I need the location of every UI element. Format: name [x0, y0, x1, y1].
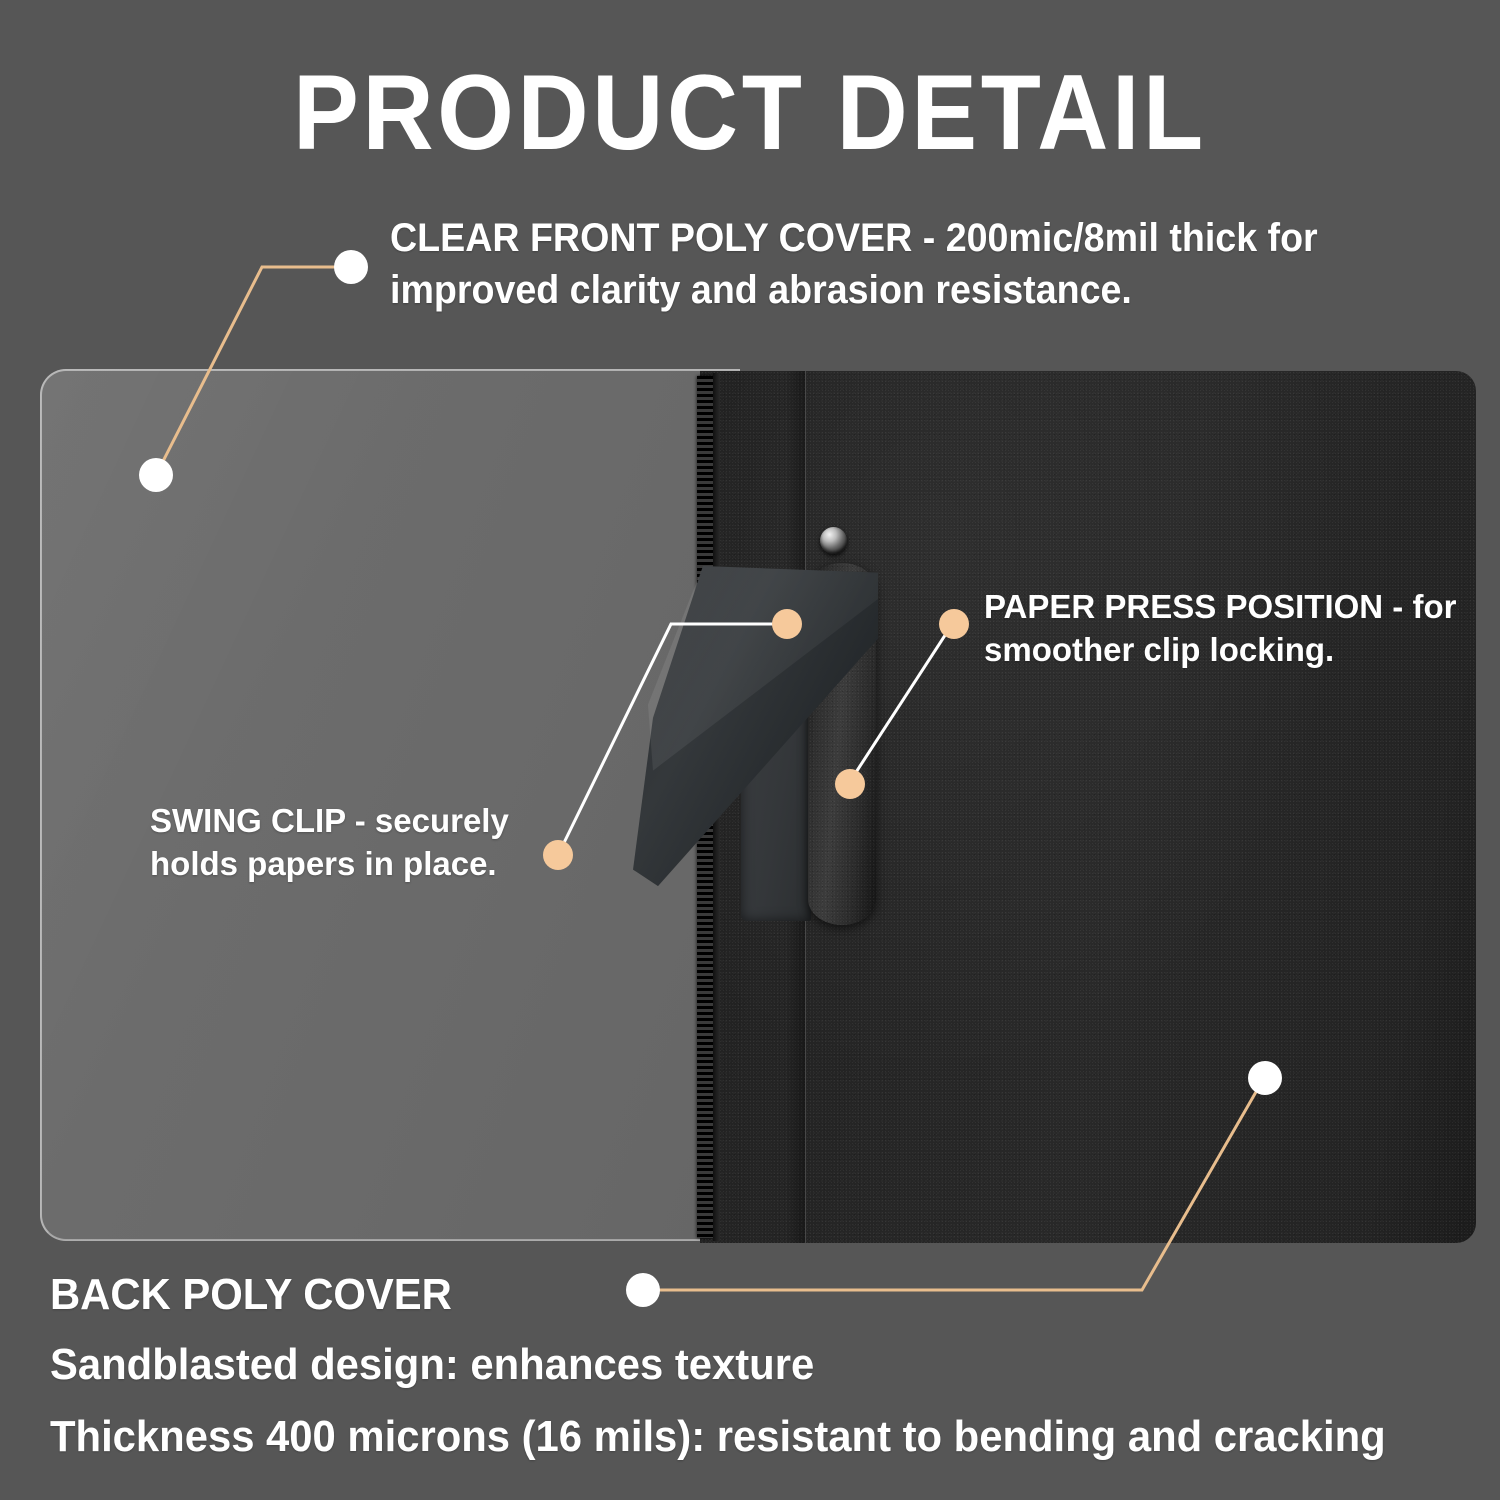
- product-detail-infographic: PRODUCT DETAIL CLEAR FRONT POLY COVER - …: [0, 0, 1500, 1500]
- bottom-heading-back-poly-cover: BACK POLY COVER: [50, 1270, 452, 1320]
- bottom-line-sandblasted-design: Sandblasted design: enhances texture: [50, 1340, 814, 1390]
- callout-paper-press-position: PAPER PRESS POSITION - for smoother clip…: [984, 586, 1484, 672]
- page-title: PRODUCT DETAIL: [60, 56, 1440, 168]
- bottom-line-thickness: Thickness 400 microns (16 mils): resista…: [50, 1412, 1386, 1462]
- callout-clear-front-poly-cover: CLEAR FRONT POLY COVER - 200mic/8mil thi…: [390, 212, 1396, 316]
- marker-dot-back-cover-label: [626, 1273, 660, 1307]
- marker-dot-swing-clip-product: [772, 609, 802, 639]
- marker-dot-clear-cover-label: [334, 250, 368, 284]
- callout-swing-clip: SWING CLIP - securely holds papers in pl…: [150, 800, 570, 886]
- marker-dot-back-cover-product: [1248, 1061, 1282, 1095]
- marker-dot-paper-press-label: [939, 609, 969, 639]
- marker-dot-clear-cover-product: [139, 458, 173, 492]
- marker-dot-paper-press-product: [835, 769, 865, 799]
- metal-rivet: [820, 527, 847, 554]
